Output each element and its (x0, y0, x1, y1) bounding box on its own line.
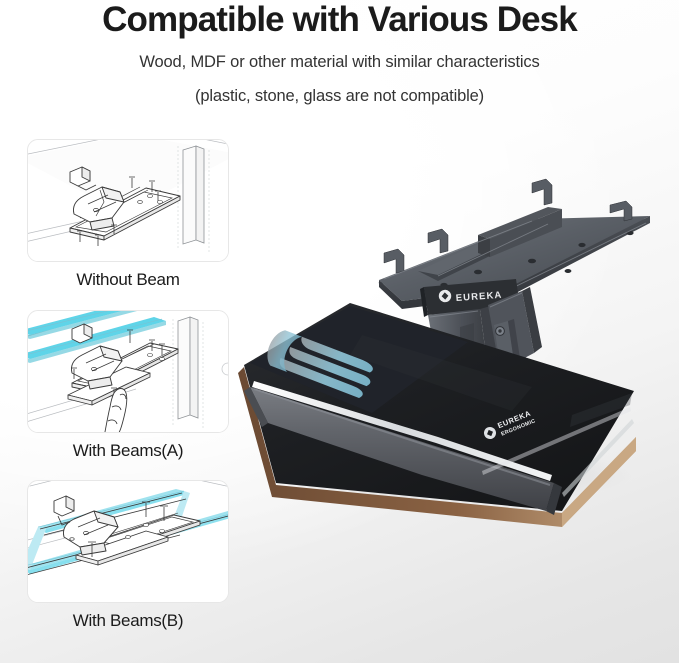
product-photo: EUREKA (232, 175, 679, 535)
list-item: With Beams(B) (27, 480, 229, 631)
thumbnail-label-with-beams-b: With Beams(B) (27, 611, 229, 631)
subtitle-line-2: (plastic, stone, glass are not compatibl… (0, 88, 679, 105)
thumbnail-card-with-beams-b[interactable] (27, 480, 229, 603)
thumbnail-label-without-beam: Without Beam (27, 270, 229, 290)
diagram-without-beam (28, 140, 229, 262)
thumbnail-card-with-beams-a[interactable] (27, 310, 229, 433)
thumbnail-label-with-beams-a: With Beams(A) (27, 441, 229, 461)
diagram-with-beams-a (28, 311, 229, 433)
subtitle-line-1: Wood, MDF or other material with similar… (0, 54, 679, 71)
diagram-with-beams-b (28, 481, 229, 603)
compatibility-thumbnail-list: Without Beam (27, 139, 229, 631)
page-title: Compatible with Various Desk (0, 0, 679, 37)
list-item: Without Beam (27, 139, 229, 290)
keyboard-tray-product-illustration: EUREKA (232, 175, 679, 535)
thumbnail-card-without-beam[interactable] (27, 139, 229, 262)
list-item: With Beams(A) (27, 310, 229, 461)
header: Compatible with Various Desk Wood, MDF o… (0, 0, 679, 118)
